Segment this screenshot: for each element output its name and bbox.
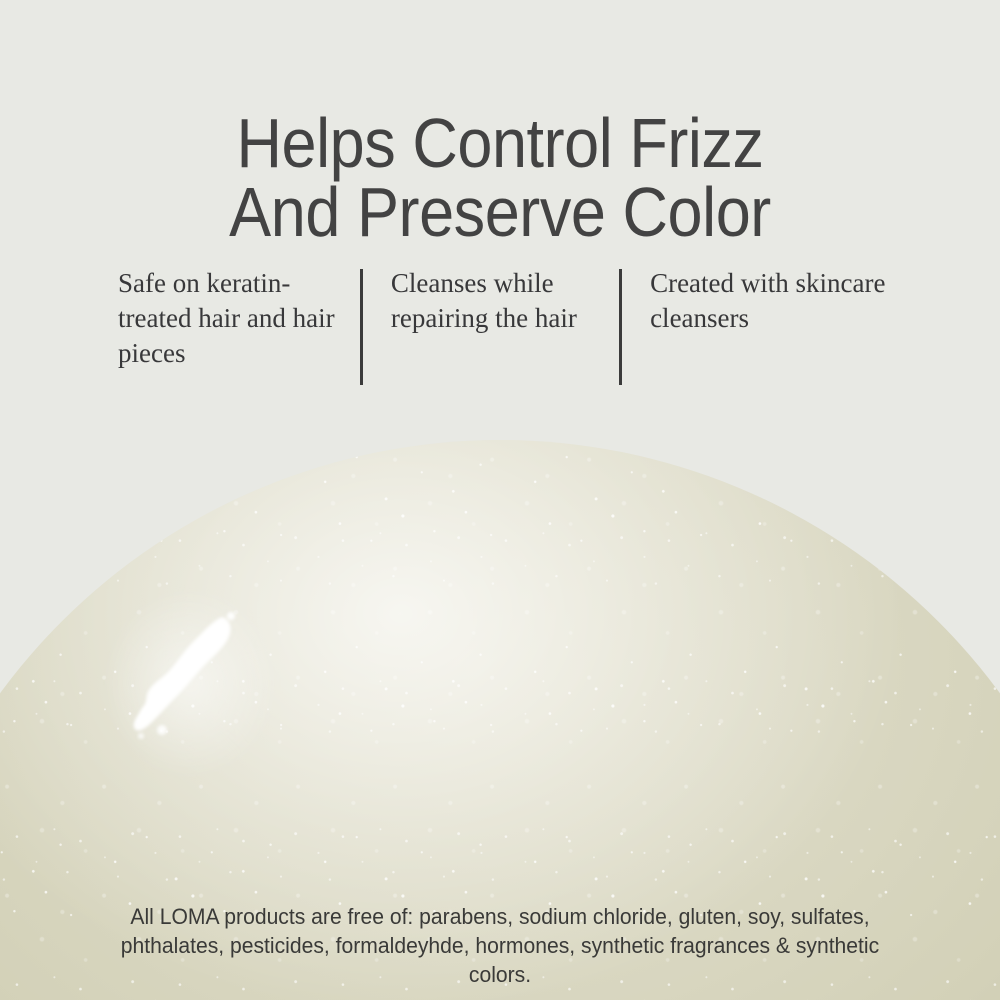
- feature-item-skincare-cleansers: Created with skincare cleansers: [622, 266, 886, 336]
- specular-glow: [108, 588, 278, 778]
- product-feature-card: Helps Control Frizz And Preserve Color S…: [0, 0, 1000, 1000]
- page-title: Helps Control Frizz And Preserve Color: [50, 109, 950, 248]
- feature-list: Safe on keratin-treated hair and hair pi…: [118, 266, 886, 385]
- feature-item-keratin-safe: Safe on keratin-treated hair and hair pi…: [118, 266, 360, 371]
- feature-item-cleanse-repair: Cleanses while repairing the hair: [363, 266, 619, 336]
- specular-highlight: [132, 612, 244, 744]
- free-of-disclaimer: All LOMA products are free of: parabens,…: [116, 902, 884, 989]
